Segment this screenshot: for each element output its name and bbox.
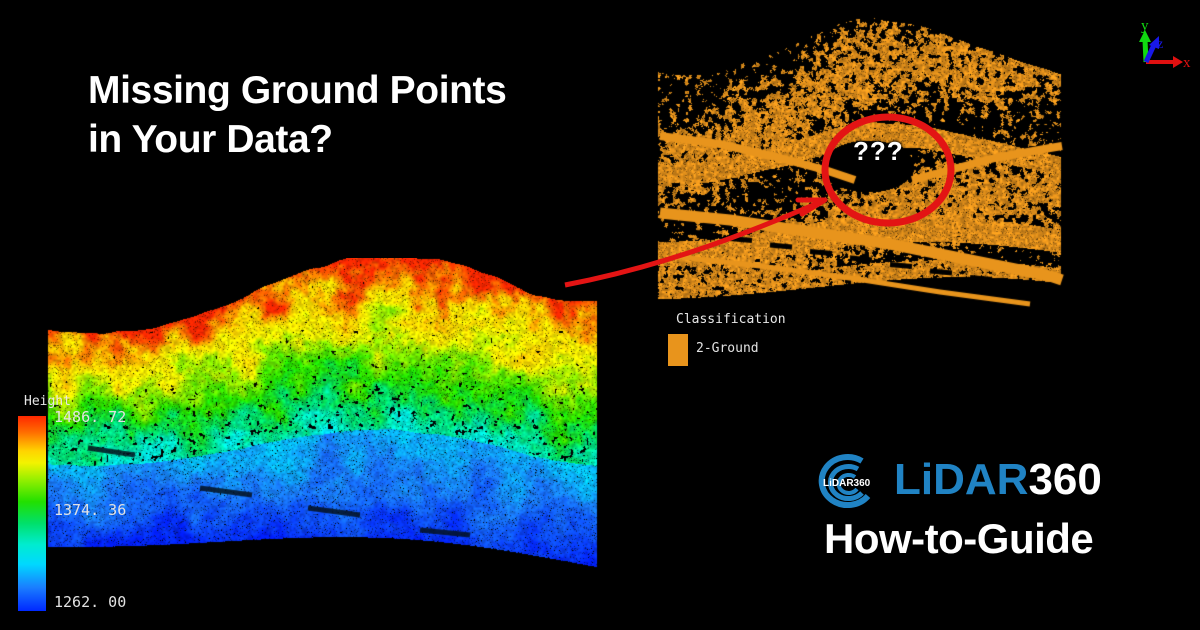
brand-word-lidar: LiDAR — [894, 455, 1028, 504]
brand-word-360: 360 — [1028, 455, 1101, 504]
height-legend-title: Height — [24, 394, 71, 409]
page-title-line-2: in Your Data? — [88, 115, 608, 164]
classification-color-swatch — [668, 334, 688, 366]
height-legend-min-label: 1262. 00 — [54, 593, 126, 611]
logo-mark-text: LiDAR360 — [823, 478, 871, 489]
page-title-line-1: Missing Ground Points — [88, 66, 608, 115]
height-legend: Height 1486. 72 1374. 36 1262. 00 — [18, 394, 138, 619]
y-axis-label: y — [1141, 18, 1149, 34]
ground-classified-point-cloud — [650, 8, 1070, 338]
axis-orientation-gizmo: y z x — [1124, 18, 1196, 82]
height-colorbar — [18, 416, 46, 611]
classification-legend: Classification 2-Ground — [668, 312, 848, 370]
page-title: Missing Ground Points in Your Data? — [88, 66, 608, 164]
x-axis-label: x — [1183, 55, 1191, 71]
x-axis-icon — [1146, 56, 1183, 68]
height-legend-mid-label: 1374. 36 — [54, 501, 126, 519]
height-legend-max-label: 1486. 72 — [54, 408, 126, 426]
brand-block: LiDAR360 LiDAR360 How-to-Guide — [818, 448, 1158, 578]
classification-item-label: 2-Ground — [696, 341, 759, 356]
axis-gizmo-svg: y z x — [1124, 18, 1196, 82]
poster-canvas: Missing Ground Points in Your Data? Heig… — [0, 0, 1200, 630]
brand-subtitle: How-to-Guide — [824, 514, 1093, 564]
lidar360-logo-icon: LiDAR360 — [818, 452, 882, 512]
brand-wordmark: LiDAR360 — [894, 454, 1102, 506]
classification-legend-title: Classification — [676, 312, 786, 327]
z-axis-label: z — [1157, 37, 1163, 52]
